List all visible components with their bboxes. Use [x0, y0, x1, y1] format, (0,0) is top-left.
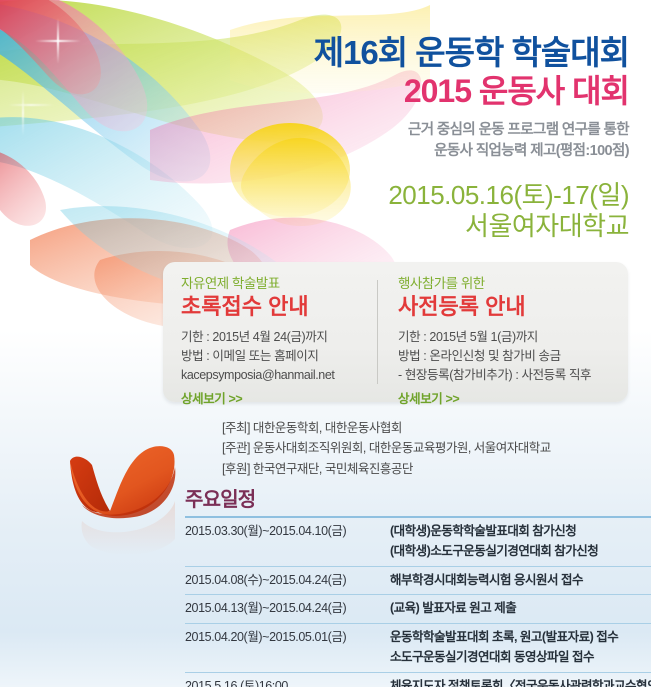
box-line: - 현장등록(참가비추가) : 사전등록 직후 — [398, 366, 618, 385]
schedule-item: 운동학학술발표대회 초록, 원고(발표자료) 접수 — [390, 628, 651, 648]
schedule-date: 2015.04.13(월)~2015.04.24(금) — [185, 599, 390, 619]
table-row: 2015.03.30(월)~2015.04.10(금) (대학생)운동학학술발표… — [185, 518, 651, 566]
info-boxes-panel: 자유연제 학술발표 초록접수 안내 기한 : 2015년 4월 24(금)까지 … — [163, 262, 628, 402]
poster-canvas: 제16회 운동학 학술대회 2015 운동사 대회 근거 중심의 운동 프로그램… — [0, 0, 651, 687]
schedule-desc: 체육지도자 정책토론회〈전국운동사관련학과교수협의회〉 — [390, 677, 651, 687]
schedule-section: 주요일정 2015.03.30(월)~2015.04.10(금) (대학생)운동… — [185, 483, 651, 687]
details-link[interactable]: 상세보기 >> — [181, 388, 242, 407]
organizer-line: [후원] 한국연구재단, 국민체육진흥공단 — [222, 459, 551, 479]
tagline-line-2: 운동사 직업능력 제고(평점:100점) — [314, 141, 629, 162]
box-line: 방법 : 이메일 또는 홈페이지 — [181, 347, 368, 366]
schedule-item: 체육지도자 정책토론회〈전국운동사관련학과교수협의회〉 — [390, 677, 651, 687]
schedule-item: (교육) 발표자료 원고 제출 — [390, 599, 651, 619]
table-row: 2015.5.16.(토)16:00 체육지도자 정책토론회〈전국운동사관련학과… — [185, 673, 651, 687]
box-line: 방법 : 온라인신청 및 참가비 송금 — [398, 347, 618, 366]
box-title: 초록접수 안내 — [181, 293, 368, 321]
schedule-item: (대학생)소도구운동실기경연대회 참가신청 — [390, 542, 651, 562]
schedule-date: 2015.04.20(월)~2015.05.01(금) — [185, 628, 390, 648]
details-link[interactable]: 상세보기 >> — [398, 388, 459, 407]
contact-email: kacepsymposia@hanmail.net — [181, 366, 368, 385]
sparkle-star-icon — [8, 90, 38, 120]
tagline-line-1: 근거 중심의 운동 프로그램 연구를 통한 — [314, 120, 629, 141]
organizer-line: [주최] 대한운동학회, 대한운동사협회 — [222, 418, 551, 438]
box-line: 기한 : 2015년 5월 1(금)까지 — [398, 328, 618, 347]
pre-registration-box: 행사참가를 위한 사전등록 안내 기한 : 2015년 5월 1(금)까지 방법… — [378, 262, 628, 402]
schedule-item: 소도구운동실기경연대회 동영상파일 접수 — [390, 648, 651, 668]
page-subtitle: 2015 운동사 대회 — [314, 73, 629, 110]
schedule-date: 2015.03.30(월)~2015.04.10(금) — [185, 522, 390, 542]
schedule-date: 2015.5.16.(토)16:00 — [185, 677, 390, 687]
schedule-desc: 운동학학술발표대회 초록, 원고(발표자료) 접수 소도구운동실기경연대회 동영… — [390, 628, 651, 668]
orange-swoosh-logo — [48, 443, 208, 608]
schedule-desc: (대학생)운동학학술발표대회 참가신청 (대학생)소도구운동실기경연대회 참가신… — [390, 522, 651, 562]
abstract-submission-box: 자유연제 학술발표 초록접수 안내 기한 : 2015년 4월 24(금)까지 … — [163, 262, 378, 402]
box-kicker: 행사참가를 위한 — [398, 276, 618, 292]
schedule-desc: (교육) 발표자료 원고 제출 — [390, 599, 651, 619]
organizers-block: [주최] 대한운동학회, 대한운동사협회 [주관] 운동사대회조직위원회, 대한… — [222, 418, 551, 479]
poster-headline: 제16회 운동학 학술대회 2015 운동사 대회 근거 중심의 운동 프로그램… — [314, 34, 629, 243]
schedule-item: (대학생)운동학학술발표대회 참가신청 — [390, 522, 651, 542]
schedule-date: 2015.04.08(수)~2015.04.24(금) — [185, 571, 390, 591]
box-title: 사전등록 안내 — [398, 293, 618, 321]
box-kicker: 자유연제 학술발표 — [181, 276, 368, 292]
table-row: 2015.04.20(월)~2015.05.01(금) 운동학학술발표대회 초록… — [185, 624, 651, 672]
organizer-line: [주관] 운동사대회조직위원회, 대한운동교육평가원, 서울여자대학교 — [222, 438, 551, 458]
page-title: 제16회 운동학 학술대회 — [314, 34, 629, 72]
box-line: 기한 : 2015년 4월 24(금)까지 — [181, 328, 368, 347]
event-venue: 서울여자대학교 — [314, 211, 629, 243]
sparkle-star-icon — [35, 18, 81, 64]
table-row: 2015.04.13(월)~2015.04.24(금) (교육) 발표자료 원고… — [185, 595, 651, 623]
schedule-heading: 주요일정 — [185, 483, 651, 512]
schedule-item: 해부학경시대회능력시험 응시원서 접수 — [390, 571, 651, 591]
event-date: 2015.05.16(토)-17(일) — [314, 180, 629, 212]
schedule-desc: 해부학경시대회능력시험 응시원서 접수 — [390, 571, 651, 591]
table-row: 2015.04.08(수)~2015.04.24(금) 해부학경시대회능력시험 … — [185, 567, 651, 595]
